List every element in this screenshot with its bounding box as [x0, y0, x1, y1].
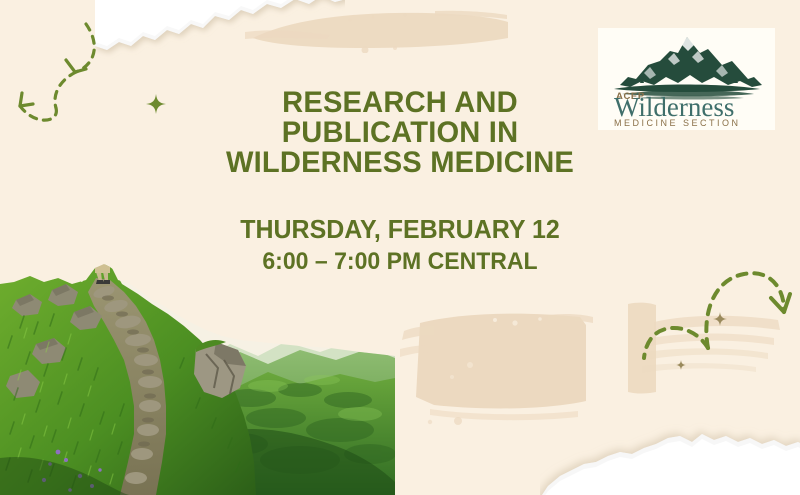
torn-paper-top — [95, 0, 345, 60]
brush-stroke-center — [400, 305, 595, 425]
acep-wilderness-logo: ACEP Wilderness MEDICINE SECTION — [602, 31, 772, 127]
acep-wilderness-logo-card: ACEP Wilderness MEDICINE SECTION — [598, 28, 775, 130]
sparkle-star-icon-right-lower — [676, 360, 686, 370]
sparkle-star-icon-left — [146, 94, 166, 114]
logo-subtitle-text: MEDICINE SECTION — [614, 118, 741, 127]
hiker-ridge-photo — [0, 248, 395, 495]
torn-paper-bottom — [540, 420, 800, 495]
sparkle-star-icon-right — [713, 312, 727, 326]
event-date: THURSDAY, FEBRUARY 12 — [16, 216, 784, 243]
dashed-arrow-right-icon — [640, 258, 795, 363]
poster-canvas: ACEP Wilderness MEDICINE SECTION RESEARC… — [0, 0, 800, 495]
dashed-arrow-left-icon — [8, 22, 128, 127]
title-line-3: WILDERNESS MEDICINE — [12, 148, 788, 178]
